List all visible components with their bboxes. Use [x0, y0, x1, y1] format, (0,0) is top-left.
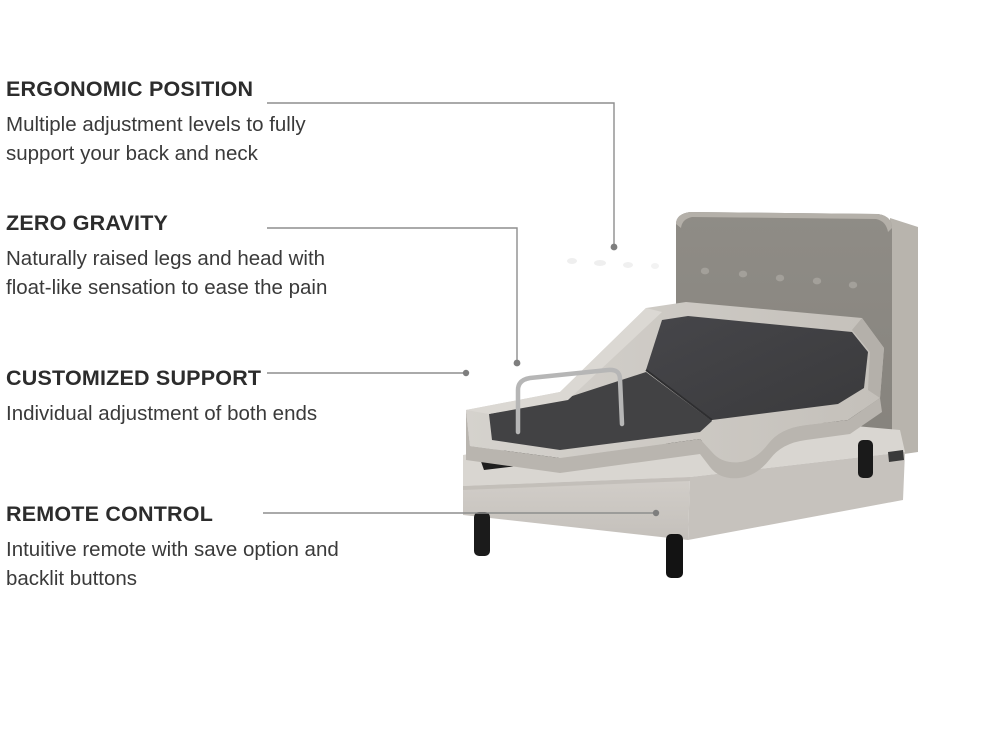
headboard-side-edge [890, 218, 918, 456]
infographic-page: ERGONOMIC POSITION Multiple adjustment l… [0, 0, 1000, 750]
artifact-dot [623, 262, 633, 268]
feature-title: CUSTOMIZED SUPPORT [6, 367, 426, 390]
tufting-button-icon [701, 268, 709, 275]
leg-back-right [858, 440, 873, 478]
feature-body: Individual adjustment of both ends [6, 399, 366, 428]
artifact-dot [651, 263, 659, 269]
feature-body: Naturally raised legs and head with floa… [6, 244, 366, 302]
feature-title: ERGONOMIC POSITION [6, 78, 426, 101]
feature-remote-control: REMOTE CONTROL Intuitive remote with sav… [6, 503, 426, 593]
feature-title: REMOTE CONTROL [6, 503, 426, 526]
feature-customized-support: CUSTOMIZED SUPPORT Individual adjustment… [6, 367, 426, 428]
feature-zero-gravity: ZERO GRAVITY Naturally raised legs and h… [6, 212, 426, 302]
artifact-dot [594, 260, 606, 266]
feature-ergonomic-position: ERGONOMIC POSITION Multiple adjustment l… [6, 78, 426, 168]
tufting-button-icon [776, 275, 784, 282]
tufting-button-icon [813, 278, 821, 285]
background-artifacts [567, 258, 659, 269]
feature-body: Intuitive remote with save option and ba… [6, 535, 366, 593]
leg-front-right [666, 534, 683, 578]
feature-body: Multiple adjustment levels to fully supp… [6, 110, 366, 168]
artifact-dot [567, 258, 577, 264]
leg-front-left [474, 512, 490, 556]
feature-title: ZERO GRAVITY [6, 212, 426, 235]
leg-back-far [888, 450, 904, 462]
tufting-button-icon [849, 282, 857, 289]
tufting-button-icon [739, 271, 747, 278]
